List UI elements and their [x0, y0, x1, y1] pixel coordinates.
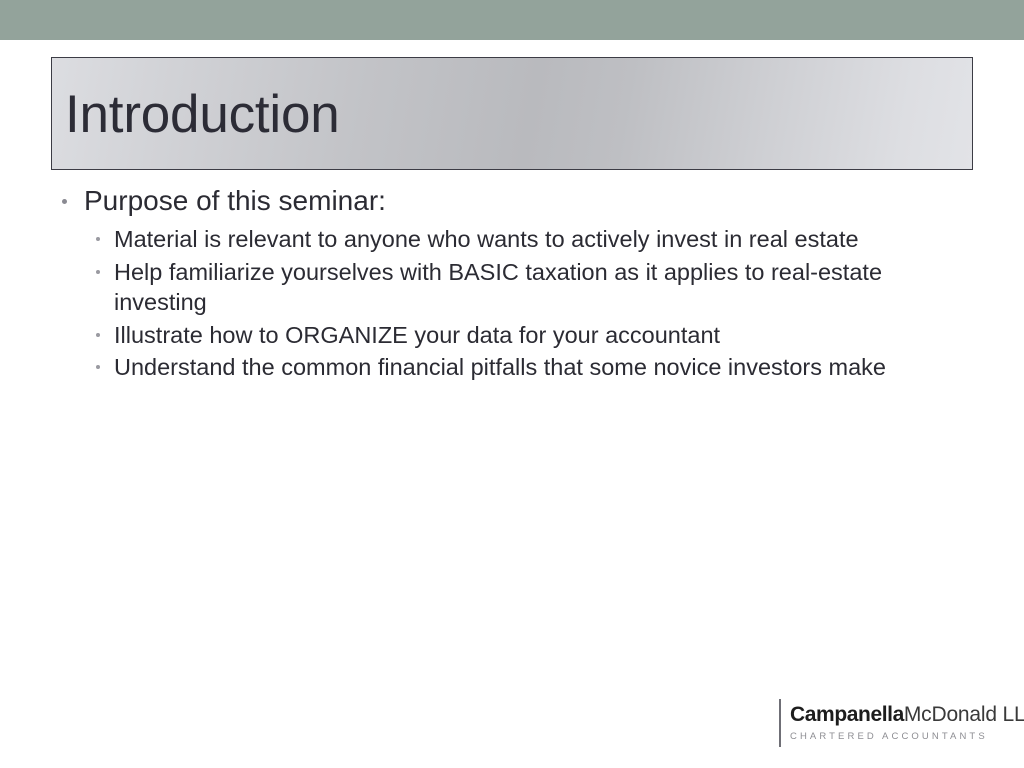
logo-name-secondary: McDonald LLP [904, 703, 1024, 726]
sub-bullet-list: Material is relevant to anyone who wants… [51, 224, 971, 383]
list-item: Help familiarize yourselves with BASIC t… [51, 257, 971, 318]
list-item-label: Purpose of this seminar: [84, 185, 386, 216]
list-item-label: Illustrate how to ORGANIZE your data for… [114, 322, 720, 348]
list-item-label: Help familiarize yourselves with BASIC t… [114, 259, 882, 316]
slide-accent-band [0, 0, 1024, 40]
logo-text-group: CampanellaMcDonald LLP CHARTERED ACCOUNT… [781, 699, 1024, 747]
list-item: Understand the common financial pitfalls… [51, 352, 971, 383]
list-item-label: Material is relevant to anyone who wants… [114, 226, 859, 252]
list-item-lead: Purpose of this seminar: [51, 184, 971, 218]
list-item-label: Understand the common financial pitfalls… [114, 354, 886, 380]
presentation-slide: Introduction Purpose of this seminar: Ma… [0, 0, 1024, 768]
bullet-dot-icon [96, 237, 100, 241]
bullet-dot-icon [96, 365, 100, 369]
list-item: Material is relevant to anyone who wants… [51, 224, 971, 255]
bullet-dot-icon [96, 270, 100, 274]
logo-name-primary: Campanella [790, 703, 904, 726]
slide-body: Purpose of this seminar: Material is rel… [51, 184, 971, 385]
bullet-dot-icon [62, 199, 67, 204]
logo-company-name: CampanellaMcDonald LLP [790, 704, 1024, 727]
page-title: Introduction [52, 88, 340, 141]
company-logo: CampanellaMcDonald LLP CHARTERED ACCOUNT… [779, 699, 1024, 747]
list-item: Illustrate how to ORGANIZE your data for… [51, 320, 971, 351]
logo-tagline: CHARTERED ACCOUNTANTS [790, 731, 1024, 742]
bullet-dot-icon [96, 333, 100, 337]
slide-title-plate: Introduction [51, 57, 973, 170]
